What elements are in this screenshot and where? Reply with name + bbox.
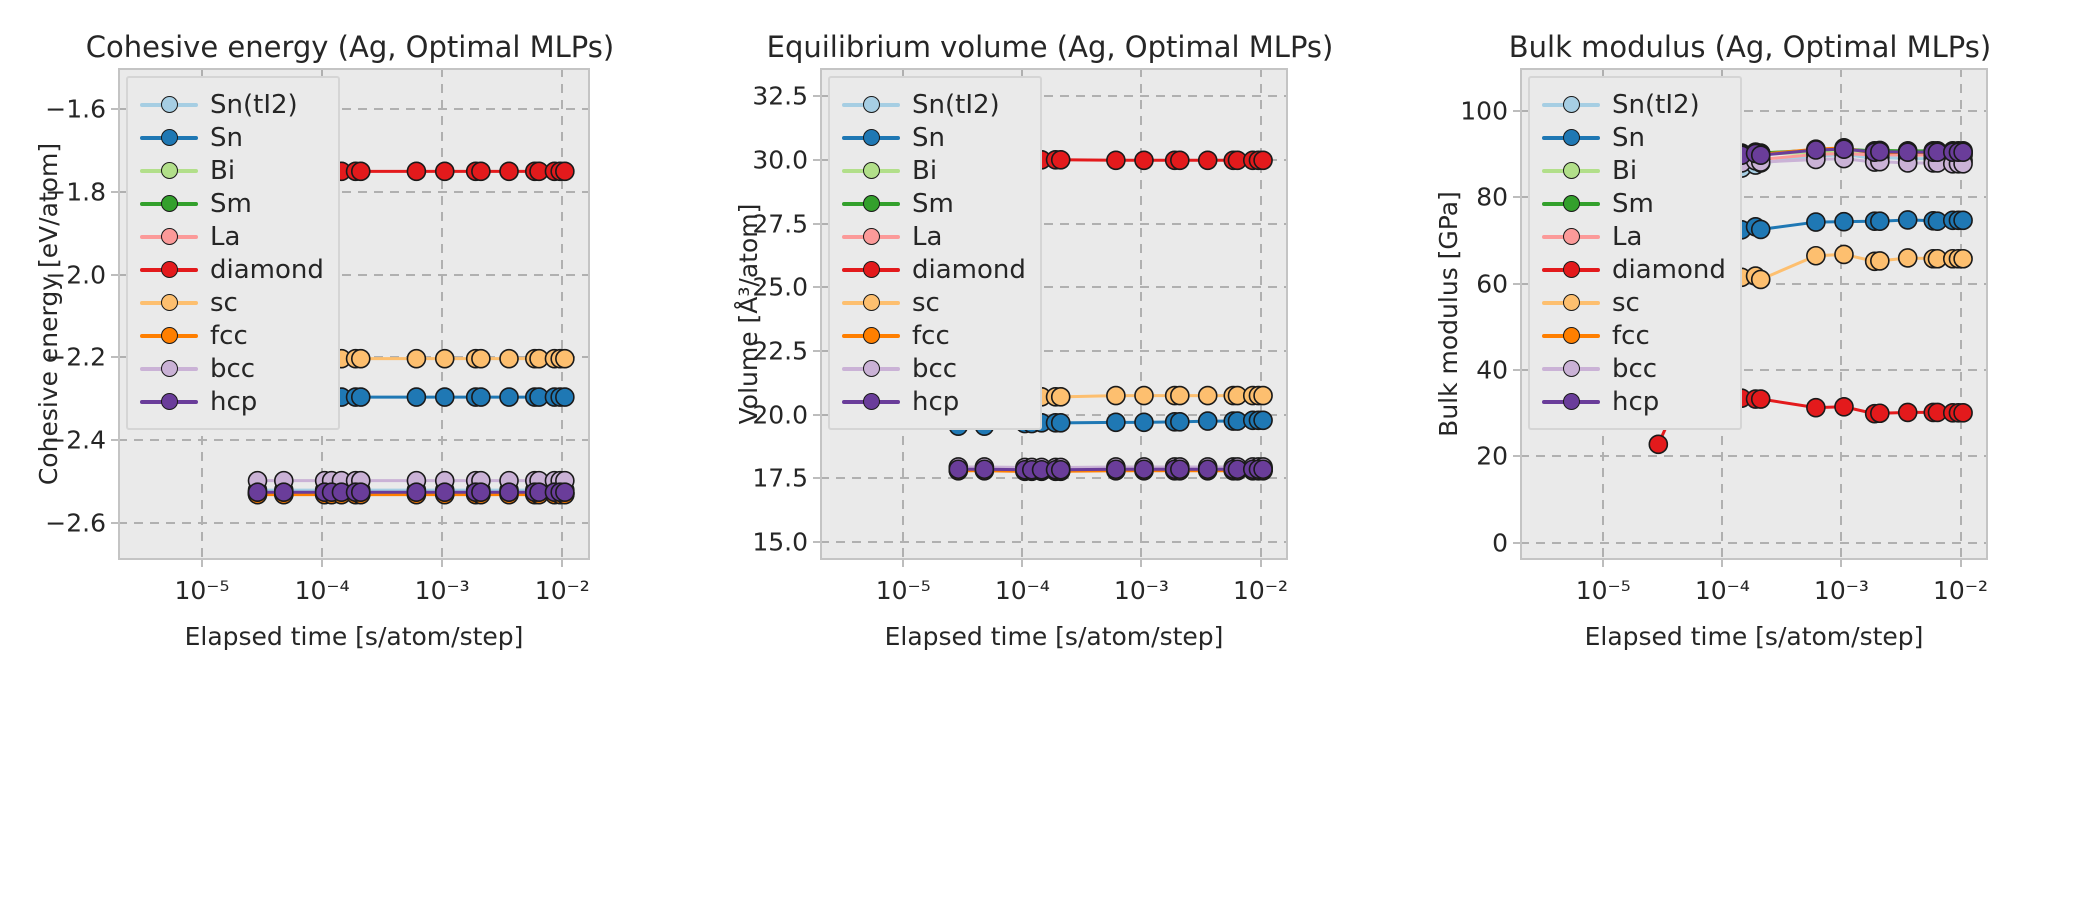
x-tick-label: 10⁻⁵: [876, 576, 931, 605]
legend-item-label: Sn: [1612, 125, 1645, 151]
data-point: [500, 388, 518, 406]
legend-dot: [1563, 96, 1580, 113]
y-tick-mark: [111, 356, 118, 358]
legend-item-bcc[interactable]: bcc: [842, 352, 1026, 385]
legend-dot: [161, 360, 178, 377]
data-point: [249, 483, 267, 501]
y-tick-mark: [813, 541, 820, 543]
y-tick-mark: [111, 439, 118, 441]
legend-marker-icon: [1542, 393, 1600, 411]
legend-marker-icon: [842, 360, 900, 378]
y-tick-mark: [111, 108, 118, 110]
data-point: [1752, 146, 1770, 164]
data-point: [1752, 220, 1770, 238]
data-point: [556, 350, 574, 368]
legend-dot: [1563, 360, 1580, 377]
data-point: [1899, 143, 1917, 161]
data-point: [1107, 151, 1125, 169]
data-point: [1171, 460, 1189, 478]
data-point: [352, 162, 370, 180]
legend-dot: [161, 162, 178, 179]
data-point: [500, 350, 518, 368]
legend-item-snti2[interactable]: Sn(tI2): [140, 88, 324, 121]
legend-item-hcp[interactable]: hcp: [140, 385, 324, 418]
x-tick-mark: [1721, 560, 1723, 567]
legend-item-label: Sn(tI2): [210, 92, 298, 118]
data-point: [1835, 213, 1853, 231]
legend-item-sn[interactable]: Sn: [1542, 121, 1726, 154]
legend-marker-icon: [1542, 294, 1600, 312]
y-tick-mark: [1513, 369, 1520, 371]
legend-dot: [161, 327, 178, 344]
data-point: [1171, 151, 1189, 169]
y-tick-mark: [813, 350, 820, 352]
x-tick-label: 10⁻⁵: [174, 576, 229, 605]
legend-item-snti2[interactable]: Sn(tI2): [842, 88, 1026, 121]
x-tick-mark: [201, 560, 203, 567]
legend-dot: [1563, 129, 1580, 146]
x-tick-mark: [561, 560, 563, 567]
legend-marker-icon: [140, 228, 198, 246]
legend-marker-icon: [842, 195, 900, 213]
data-point: [1899, 403, 1917, 421]
legend-item-label: fcc: [210, 323, 248, 349]
legend-marker-icon: [140, 96, 198, 114]
y-tick-mark: [111, 522, 118, 524]
legend-item-bi[interactable]: Bi: [140, 154, 324, 187]
x-tick-label: 10⁻²: [535, 576, 590, 605]
data-point: [275, 483, 293, 501]
legend-item-diamond[interactable]: diamond: [842, 253, 1026, 286]
legend-item-label: fcc: [1612, 323, 1650, 349]
data-point: [1171, 387, 1189, 405]
legend-item-la[interactable]: La: [842, 220, 1026, 253]
legend-item-label: Sn: [210, 125, 243, 151]
y-tick-mark: [111, 191, 118, 193]
legend-item-label: sc: [1612, 290, 1640, 316]
data-point: [1254, 411, 1272, 429]
y-tick-mark: [1513, 455, 1520, 457]
legend-item-hcp[interactable]: hcp: [1542, 385, 1726, 418]
legend-marker-icon: [140, 360, 198, 378]
y-tick-label: −2.6: [0, 508, 106, 537]
legend-marker-icon: [1542, 261, 1600, 279]
data-point: [1835, 140, 1853, 158]
legend-item-label: Bi: [1612, 158, 1637, 184]
data-point: [352, 350, 370, 368]
data-point: [1807, 399, 1825, 417]
data-point: [1835, 398, 1853, 416]
legend-dot: [863, 129, 880, 146]
y-tick-label: 32.5: [700, 82, 808, 111]
data-point: [1254, 460, 1272, 478]
legend-item-diamond[interactable]: diamond: [1542, 253, 1726, 286]
x-tick-label: 10⁻⁴: [995, 576, 1050, 605]
data-point: [556, 483, 574, 501]
panel-cohesive-energy: Cohesive energy (Ag, Optimal MLPs) −1.6−…: [0, 0, 700, 900]
legend-item-label: hcp: [1612, 389, 1659, 415]
legend-item-label: Sn(tI2): [912, 92, 1000, 118]
y-tick-mark: [813, 477, 820, 479]
legend-item-hcp[interactable]: hcp: [842, 385, 1026, 418]
data-point: [1954, 143, 1972, 161]
legend-dot: [863, 327, 880, 344]
data-point: [1107, 413, 1125, 431]
legend-marker-icon: [842, 162, 900, 180]
legend-item-bi[interactable]: Bi: [1542, 154, 1726, 187]
legend-item-label: La: [1612, 224, 1642, 250]
panel-title: Bulk modulus (Ag, Optimal MLPs): [1400, 30, 2100, 64]
data-point: [1871, 404, 1889, 422]
data-point: [1899, 249, 1917, 267]
legend-marker-icon: [140, 327, 198, 345]
legend-dot: [1563, 195, 1580, 212]
data-point: [556, 162, 574, 180]
data-point: [1752, 390, 1770, 408]
legend-dot: [161, 261, 178, 278]
data-point: [1807, 247, 1825, 265]
panel-equilibrium-volume: Equilibrium volume (Ag, Optimal MLPs) 32…: [700, 0, 1400, 900]
y-tick-mark: [813, 414, 820, 416]
legend-item-la[interactable]: La: [1542, 220, 1726, 253]
y-tick-label: 17.5: [700, 464, 808, 493]
legend-item-fcc[interactable]: fcc: [842, 319, 1026, 352]
data-point: [472, 350, 490, 368]
legend-dot: [1563, 327, 1580, 344]
panel-bulk-modulus: Bulk modulus (Ag, Optimal MLPs) 10080604…: [1400, 0, 2100, 900]
legend-dot: [1563, 228, 1580, 245]
legend-item-label: hcp: [210, 389, 257, 415]
data-point: [352, 483, 370, 501]
y-tick-mark: [813, 159, 820, 161]
x-tick-label: 10⁻⁵: [1576, 576, 1631, 605]
y-tick-mark: [1513, 110, 1520, 112]
x-tick-mark: [1602, 560, 1604, 567]
x-tick-mark: [1840, 560, 1842, 567]
data-point: [472, 483, 490, 501]
legend-item-snti2[interactable]: Sn(tI2): [1542, 88, 1726, 121]
legend-item-label: Sn(tI2): [1612, 92, 1700, 118]
legend-marker-icon: [140, 261, 198, 279]
y-tick-mark: [813, 223, 820, 225]
legend-dot: [863, 294, 880, 311]
legend-item-label: diamond: [1612, 257, 1726, 283]
data-point: [1135, 387, 1153, 405]
legend-item-label: Sm: [210, 191, 252, 217]
x-tick-label: 10⁻³: [1114, 576, 1169, 605]
x-tick-mark: [902, 560, 904, 567]
legend-marker-icon: [1542, 162, 1600, 180]
panel-title: Equilibrium volume (Ag, Optimal MLPs): [700, 30, 1400, 64]
y-tick-mark: [813, 95, 820, 97]
legend-dot: [863, 360, 880, 377]
data-point: [407, 350, 425, 368]
legend-marker-icon: [842, 327, 900, 345]
legend-dot: [1563, 162, 1580, 179]
data-point: [500, 162, 518, 180]
data-point: [407, 162, 425, 180]
panel-title: Cohesive energy (Ag, Optimal MLPs): [0, 30, 700, 64]
legend-dot: [161, 393, 178, 410]
y-tick-label: 0: [1400, 528, 1508, 557]
data-point: [1871, 143, 1889, 161]
data-point: [1835, 245, 1853, 263]
data-point: [352, 388, 370, 406]
legend-item-label: fcc: [912, 323, 950, 349]
data-point: [436, 483, 454, 501]
legend-item-label: bcc: [1612, 356, 1657, 382]
data-point: [1171, 413, 1189, 431]
legend-item-sn[interactable]: Sn: [140, 121, 324, 154]
legend-item-sm[interactable]: Sm: [140, 187, 324, 220]
legend-item-sn[interactable]: Sn: [842, 121, 1026, 154]
data-point: [1899, 211, 1917, 229]
data-point: [1107, 460, 1125, 478]
data-point: [436, 388, 454, 406]
legend-item-label: diamond: [912, 257, 1026, 283]
data-point: [1199, 460, 1217, 478]
legend-marker-icon: [1542, 195, 1600, 213]
x-tick-label: 10⁻⁴: [1695, 576, 1750, 605]
data-point: [975, 460, 993, 478]
legend-item-label: La: [210, 224, 240, 250]
x-tick-mark: [1960, 560, 1962, 567]
legend-marker-icon: [842, 96, 900, 114]
y-tick-label: 20: [1400, 442, 1508, 471]
data-point: [1107, 387, 1125, 405]
legend-dot: [863, 96, 880, 113]
legend-item-label: Sn: [912, 125, 945, 151]
legend-item-label: sc: [210, 290, 238, 316]
y-axis-label: Cohesive energy [eV/atom]: [34, 143, 63, 485]
figure-canvas: Cohesive energy (Ag, Optimal MLPs) −1.6−…: [0, 0, 2100, 900]
legend-marker-icon: [140, 162, 198, 180]
y-tick-label: 15.0: [700, 528, 808, 557]
data-point: [1052, 388, 1070, 406]
data-point: [1871, 212, 1889, 230]
y-tick-label: −1.6: [0, 95, 106, 124]
data-point: [472, 162, 490, 180]
legend-dot: [1563, 393, 1580, 410]
legend-marker-icon: [140, 129, 198, 147]
legend-marker-icon: [1542, 96, 1600, 114]
legend-dot: [863, 393, 880, 410]
data-point: [1052, 151, 1070, 169]
legend-item-bcc[interactable]: bcc: [140, 352, 324, 385]
legend-marker-icon: [842, 294, 900, 312]
legend-marker-icon: [842, 393, 900, 411]
data-point: [1254, 387, 1272, 405]
series-hcp: [249, 483, 574, 501]
legend-item-fcc[interactable]: fcc: [1542, 319, 1726, 352]
x-tick-label: 10⁻⁴: [295, 576, 350, 605]
legend-item-sc[interactable]: sc: [140, 286, 324, 319]
legend-item-label: sc: [912, 290, 940, 316]
x-tick-mark: [1260, 560, 1262, 567]
legend-item-bcc[interactable]: bcc: [1542, 352, 1726, 385]
legend-dot: [863, 195, 880, 212]
legend-item-label: Sm: [912, 191, 954, 217]
x-axis-label: Elapsed time [s/atom/step]: [820, 622, 1288, 651]
legend-item-fcc[interactable]: fcc: [140, 319, 324, 352]
data-point: [1954, 404, 1972, 422]
legend[interactable]: Sn(tI2)SnBiSmLadiamondscfccbcchcp: [1528, 76, 1742, 430]
data-point: [472, 388, 490, 406]
y-tick-mark: [1513, 542, 1520, 544]
x-tick-label: 10⁻²: [1233, 576, 1288, 605]
x-tick-label: 10⁻²: [1933, 576, 1988, 605]
data-point: [949, 460, 967, 478]
x-tick-label: 10⁻³: [1814, 576, 1869, 605]
data-point: [1807, 213, 1825, 231]
legend-item-label: Sm: [1612, 191, 1654, 217]
legend-item-sc[interactable]: sc: [842, 286, 1026, 319]
data-point: [1954, 250, 1972, 268]
y-tick-label: 100: [1400, 97, 1508, 126]
x-tick-mark: [441, 560, 443, 567]
legend-marker-icon: [1542, 129, 1600, 147]
legend-marker-icon: [140, 195, 198, 213]
y-tick-mark: [1513, 196, 1520, 198]
legend-item-diamond[interactable]: diamond: [140, 253, 324, 286]
x-axis-label: Elapsed time [s/atom/step]: [118, 622, 590, 651]
data-point: [1254, 151, 1272, 169]
data-point: [1135, 413, 1153, 431]
legend-dot: [1563, 261, 1580, 278]
legend-marker-icon: [842, 228, 900, 246]
legend[interactable]: Sn(tI2)SnBiSmLadiamondscfccbcchcp: [126, 76, 340, 430]
data-point: [1199, 151, 1217, 169]
legend-item-sm[interactable]: Sm: [1542, 187, 1726, 220]
data-point: [436, 162, 454, 180]
legend-dot: [161, 294, 178, 311]
legend-marker-icon: [1542, 360, 1600, 378]
legend-dot: [863, 228, 880, 245]
legend-item-sc[interactable]: sc: [1542, 286, 1726, 319]
legend-dot: [161, 228, 178, 245]
legend-dot: [863, 162, 880, 179]
data-point: [1199, 387, 1217, 405]
data-point: [1135, 460, 1153, 478]
x-tick-label: 10⁻³: [415, 576, 470, 605]
legend-marker-icon: [842, 261, 900, 279]
data-point: [1649, 435, 1667, 453]
data-point: [1752, 270, 1770, 288]
data-point: [407, 483, 425, 501]
legend-item-sm[interactable]: Sm: [842, 187, 1026, 220]
y-tick-label: 30.0: [700, 145, 808, 174]
series-hcp: [949, 460, 1272, 479]
data-point: [1135, 151, 1153, 169]
legend-dot: [1563, 294, 1580, 311]
legend-item-label: Bi: [912, 158, 937, 184]
data-point: [1954, 211, 1972, 229]
data-point: [1052, 461, 1070, 479]
legend-item-label: Bi: [210, 158, 235, 184]
data-point: [1052, 414, 1070, 432]
data-point: [436, 350, 454, 368]
legend-marker-icon: [140, 294, 198, 312]
legend-marker-icon: [140, 393, 198, 411]
legend[interactable]: Sn(tI2)SnBiSmLadiamondscfccbcchcp: [828, 76, 1042, 430]
legend-marker-icon: [1542, 228, 1600, 246]
legend-marker-icon: [1542, 327, 1600, 345]
x-tick-mark: [321, 560, 323, 567]
legend-item-label: hcp: [912, 389, 959, 415]
data-point: [1199, 412, 1217, 430]
data-point: [556, 388, 574, 406]
data-point: [500, 483, 518, 501]
data-point: [1871, 252, 1889, 270]
legend-dot: [161, 195, 178, 212]
legend-item-label: bcc: [912, 356, 957, 382]
y-tick-mark: [111, 274, 118, 276]
legend-dot: [863, 261, 880, 278]
legend-item-label: La: [912, 224, 942, 250]
x-axis-label: Elapsed time [s/atom/step]: [1520, 622, 1988, 651]
y-axis-label: Volume [Å³/atom]: [734, 204, 763, 425]
y-tick-mark: [813, 286, 820, 288]
legend-marker-icon: [842, 129, 900, 147]
data-point: [1807, 141, 1825, 159]
legend-item-la[interactable]: La: [140, 220, 324, 253]
legend-item-bi[interactable]: Bi: [842, 154, 1026, 187]
legend-dot: [161, 96, 178, 113]
y-tick-mark: [1513, 283, 1520, 285]
legend-dot: [161, 129, 178, 146]
x-tick-mark: [1021, 560, 1023, 567]
data-point: [407, 388, 425, 406]
legend-item-label: diamond: [210, 257, 324, 283]
legend-item-label: bcc: [210, 356, 255, 382]
y-axis-label: Bulk modulus [GPa]: [1434, 191, 1463, 437]
x-tick-mark: [1140, 560, 1142, 567]
